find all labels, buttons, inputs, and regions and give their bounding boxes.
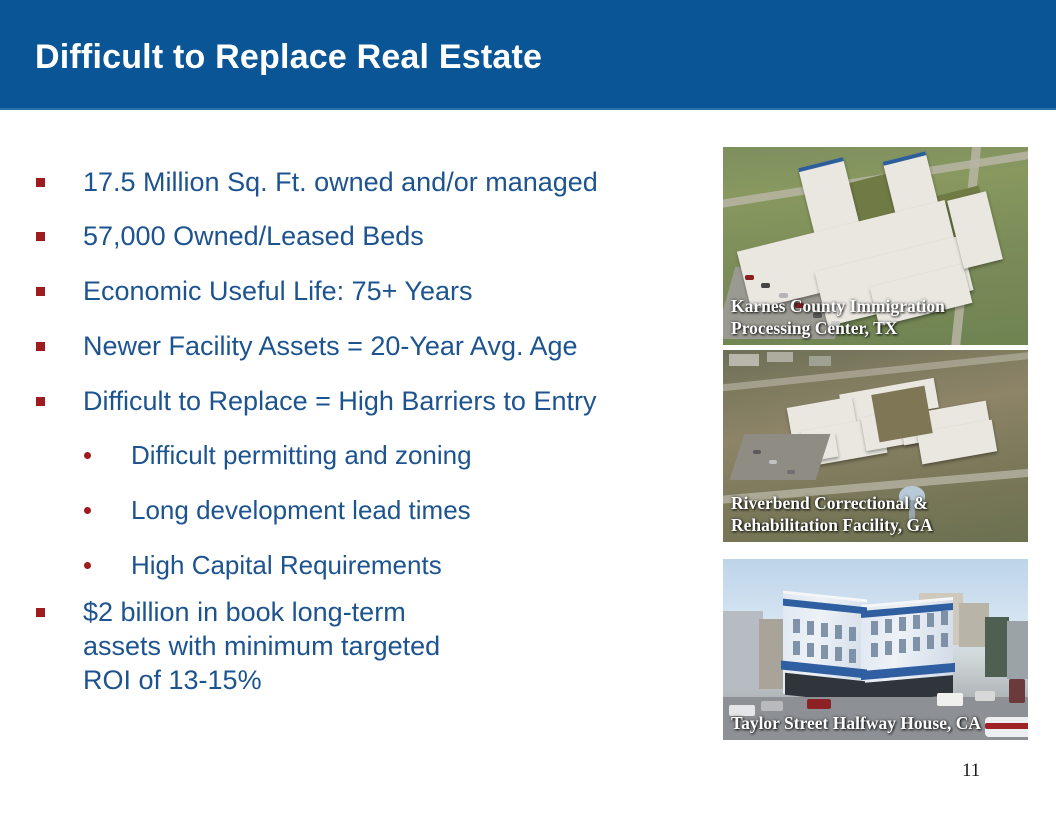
bullet-item: Difficult to Replace = High Barriers to … (36, 384, 596, 418)
bullet-item: 17.5 Million Sq. Ft. owned and/or manage… (36, 165, 598, 199)
photo-caption: Karnes County Immigration Processing Cen… (731, 296, 1024, 339)
bullet-marker-square-icon (36, 342, 45, 351)
bullet-text: Difficult to Replace = High Barriers to … (83, 384, 596, 418)
bullet-text: $2 billion in book long-term assets with… (83, 595, 440, 697)
bullet-list: 17.5 Million Sq. Ft. owned and/or manage… (0, 110, 700, 750)
bullet-marker-square-icon (36, 608, 45, 617)
photo-riverbend: Riverbend Correctional & Rehabilitation … (723, 350, 1028, 542)
bullet-item: Newer Facility Assets = 20-Year Avg. Age (36, 329, 578, 363)
bullet-marker-dot-icon (84, 507, 91, 514)
sub-bullet-text: Difficult permitting and zoning (131, 439, 472, 472)
bullet-text: Economic Useful Life: 75+ Years (83, 274, 472, 308)
bullet-marker-square-icon (36, 232, 45, 241)
sub-bullet-text: High Capital Requirements (131, 549, 442, 582)
bullet-marker-square-icon (36, 397, 45, 406)
bullet-text: 17.5 Million Sq. Ft. owned and/or manage… (83, 165, 598, 199)
bullet-marker-square-icon (36, 287, 45, 296)
photo-karnes-county: Karnes County Immigration Processing Cen… (723, 147, 1028, 345)
slide-title: Difficult to Replace Real Estate (35, 38, 542, 77)
sub-bullet-text: Long development lead times (131, 494, 471, 527)
bullet-marker-dot-icon (84, 562, 91, 569)
bullet-item: $2 billion in book long-term assets with… (36, 595, 440, 697)
photo-taylor-street: Taylor Street Halfway House, CA (723, 559, 1028, 740)
sub-bullet-item: Difficult permitting and zoning (84, 439, 472, 472)
sub-bullet-item: High Capital Requirements (84, 549, 442, 582)
bullet-marker-dot-icon (84, 452, 91, 459)
bullet-marker-square-icon (36, 178, 45, 187)
bullet-item: 57,000 Owned/Leased Beds (36, 219, 424, 253)
bullet-item: Economic Useful Life: 75+ Years (36, 274, 472, 308)
bullet-text: 57,000 Owned/Leased Beds (83, 219, 424, 253)
page-number: 11 (962, 760, 980, 782)
sub-bullet-item: Long development lead times (84, 494, 471, 527)
photo-caption: Taylor Street Halfway House, CA (731, 713, 1024, 734)
bullet-text: Newer Facility Assets = 20-Year Avg. Age (83, 329, 578, 363)
photo-caption: Riverbend Correctional & Rehabilitation … (731, 493, 1024, 536)
